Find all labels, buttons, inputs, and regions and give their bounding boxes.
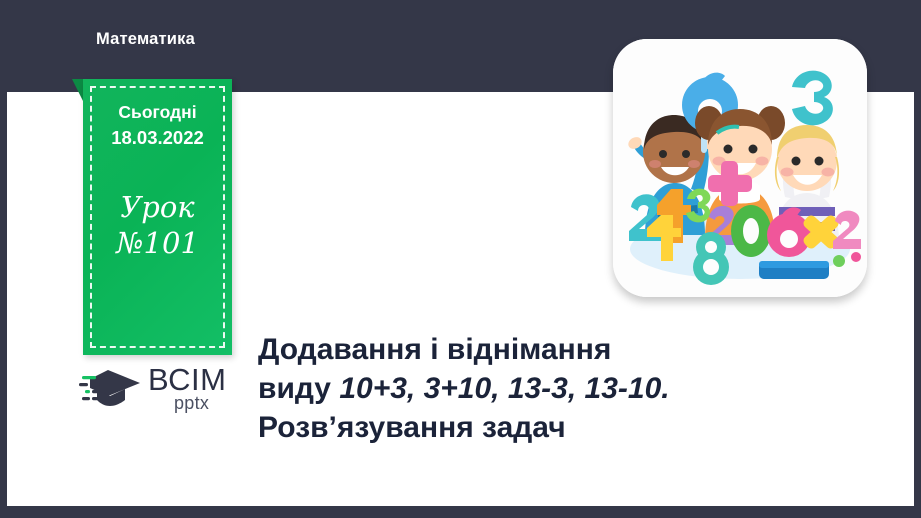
title-line-2: виду 10+3, 3+10, 13-3, 13-10. (258, 369, 908, 408)
presentation-slide: Математика Сьогодні 18.03.2022 Урок №101 (0, 0, 921, 518)
title-line-2-prefix: виду (258, 372, 339, 405)
kids-with-numbers-illustration (613, 39, 867, 297)
page-title: Додавання і віднімання виду 10+3, 3+10, … (258, 330, 908, 447)
graduation-cap-icon (78, 366, 144, 410)
lesson-number: №101 (116, 226, 199, 261)
today-label: Сьогодні (118, 100, 196, 125)
lesson-number-block: Урок №101 (116, 190, 199, 261)
title-line-2-expression: 10+3, 3+10, 13-3, 13-10. (339, 372, 669, 405)
logo-main-text: ВСІМ (148, 364, 226, 395)
title-line-1: Додавання і віднімання (258, 330, 908, 369)
ribbon-content: Сьогодні 18.03.2022 Урок №101 (83, 79, 232, 355)
subject-label: Математика (96, 30, 195, 49)
illustration-card (613, 39, 867, 297)
lesson-word: Урок (116, 190, 199, 225)
title-line-3: Розв’язування задач (258, 408, 908, 447)
vsim-pptx-logo[interactable]: ВСІМ pptx (78, 361, 263, 415)
ribbon-fold-corner (72, 79, 83, 101)
lesson-ribbon: Сьогодні 18.03.2022 Урок №101 (83, 79, 232, 355)
ribbon-body: Сьогодні 18.03.2022 Урок №101 (83, 79, 232, 355)
lesson-date: 18.03.2022 (111, 125, 204, 152)
logo-wordmark: ВСІМ pptx (148, 364, 226, 412)
